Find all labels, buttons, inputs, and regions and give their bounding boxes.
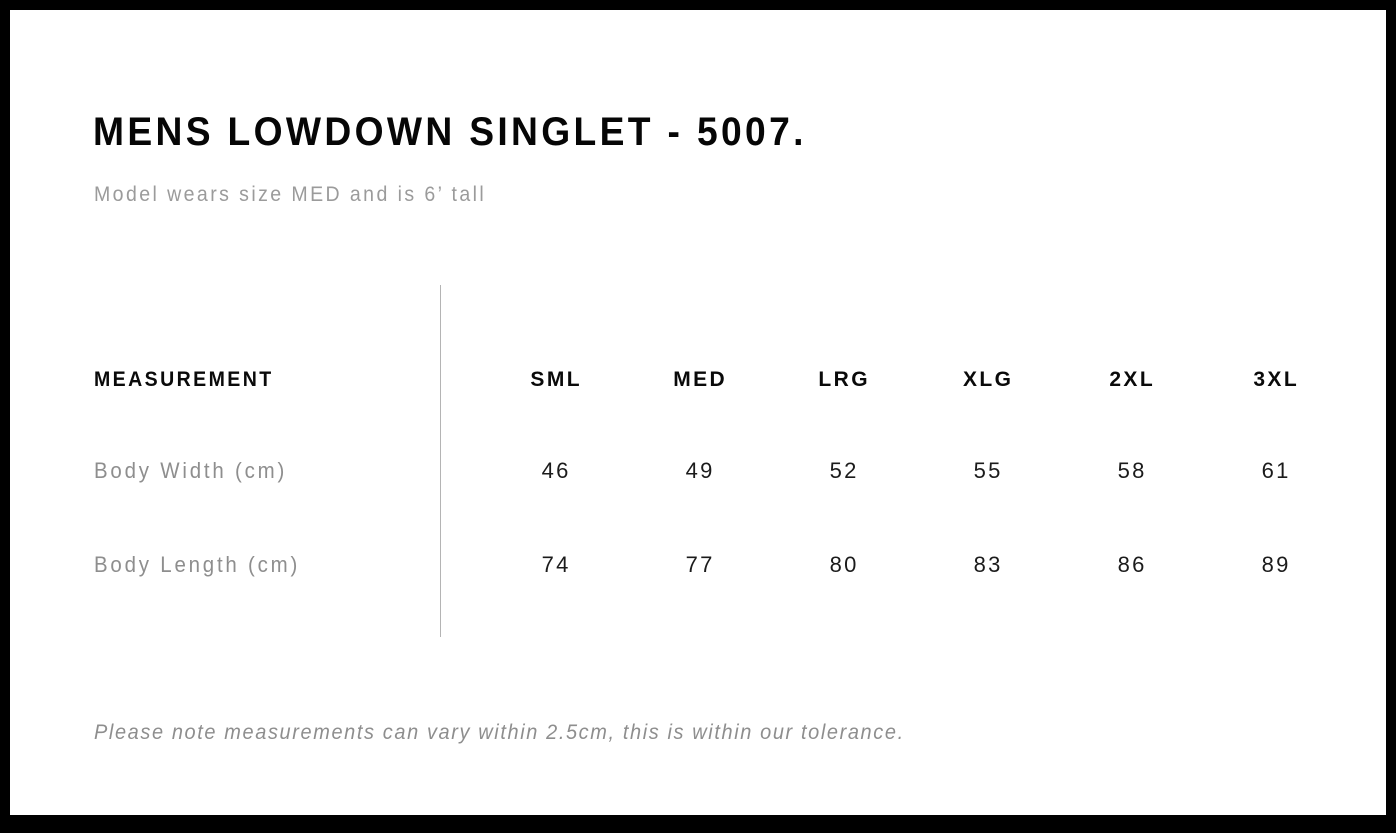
cell-body-width-xlg: 55 xyxy=(927,451,1047,491)
cell-body-width-lrg: 52 xyxy=(783,451,903,491)
table-row: Body Width (cm) 46 49 52 55 58 61 xyxy=(10,451,1386,491)
black-border-frame: MENS LOWDOWN SINGLET - 5007. Model wears… xyxy=(0,0,1396,833)
tolerance-note: Please note measurements can vary within… xyxy=(94,721,905,745)
column-header-med: MED xyxy=(639,360,759,400)
size-chart-table: MEASUREMENT SML MED LRG XLG 2XL 3XL Body… xyxy=(10,10,1386,815)
row-label-body-width: Body Width (cm) xyxy=(94,451,287,491)
cell-body-length-sml: 74 xyxy=(495,545,615,585)
column-header-measurement: MEASUREMENT xyxy=(94,360,274,400)
cell-body-width-2xl: 58 xyxy=(1071,451,1191,491)
cell-body-width-sml: 46 xyxy=(495,451,615,491)
cell-body-width-med: 49 xyxy=(639,451,759,491)
table-header-row: MEASUREMENT SML MED LRG XLG 2XL 3XL xyxy=(10,360,1386,400)
cell-body-width-3xl: 61 xyxy=(1215,451,1335,491)
table-row: Body Length (cm) 74 77 80 83 86 89 xyxy=(10,545,1386,585)
column-header-lrg: LRG xyxy=(783,360,903,400)
column-header-xlg: XLG xyxy=(927,360,1047,400)
cell-body-length-2xl: 86 xyxy=(1071,545,1191,585)
column-header-3xl: 3XL xyxy=(1215,360,1335,400)
size-chart-page: MENS LOWDOWN SINGLET - 5007. Model wears… xyxy=(10,10,1386,815)
cell-body-length-med: 77 xyxy=(639,545,759,585)
cell-body-length-lrg: 80 xyxy=(783,545,903,585)
column-header-2xl: 2XL xyxy=(1071,360,1191,400)
column-header-sml: SML xyxy=(495,360,615,400)
cell-body-length-xlg: 83 xyxy=(927,545,1047,585)
row-label-body-length: Body Length (cm) xyxy=(94,545,300,585)
cell-body-length-3xl: 89 xyxy=(1215,545,1335,585)
